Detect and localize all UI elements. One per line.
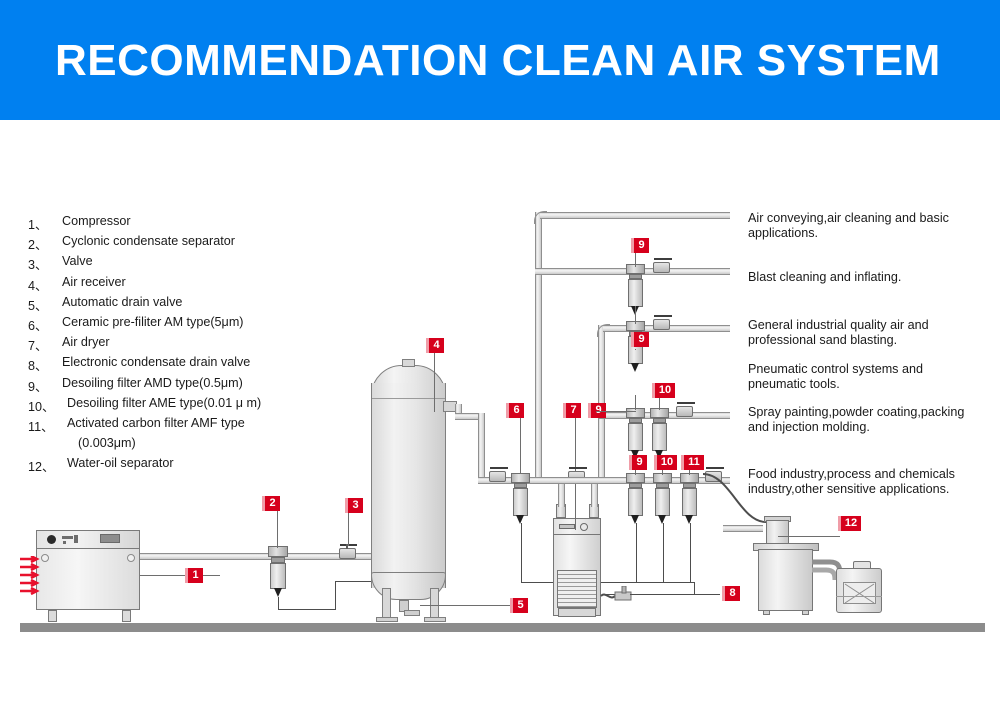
legend-item-2: 2、 Cyclonic condensate separator	[28, 234, 328, 254]
legend-number: 3、	[28, 254, 62, 273]
separator-drain-tip	[274, 588, 282, 597]
drain-line-filter-9d	[636, 523, 637, 583]
drain-line-separator	[278, 609, 336, 610]
filter-6-head	[511, 473, 530, 483]
filter-11-drain-tip	[685, 515, 693, 524]
legend-item-6: 6、 Ceramic pre-filiter AM type(5μm)	[28, 315, 328, 335]
legend-number: 9、	[28, 376, 62, 395]
pipe-dryer-inlet	[558, 481, 565, 507]
air-intake-arrows-icon	[20, 556, 46, 600]
valve-outlet-2-handle[interactable]	[654, 258, 672, 260]
drain-line-filter-11	[690, 523, 691, 583]
legend-item-5: 5、 Automatic drain valve	[28, 295, 328, 315]
legend-label: Air dryer	[62, 335, 110, 349]
collection-can-seam	[836, 596, 882, 597]
tag-9d: 9	[629, 455, 647, 470]
legend-item-11-line2: (0.003μm)	[28, 436, 328, 456]
legend-label: Desoiling filter AMD type(0.5μm)	[62, 376, 243, 390]
pipe-receiver-down	[478, 413, 485, 478]
compressor-lever-icon	[74, 535, 78, 543]
legend-label: Water-oil separator	[67, 456, 174, 470]
compressor-indicator-icon	[63, 541, 66, 544]
leader-line-10a	[659, 397, 660, 410]
air-receiver-shell	[371, 383, 446, 588]
valve-outlet-3-body[interactable]	[653, 319, 670, 330]
legend-number: 2、	[28, 234, 62, 253]
dryer-knob-icon[interactable]	[580, 523, 588, 531]
valve-outlet-3-handle[interactable]	[654, 315, 672, 317]
legend-number: 5、	[28, 295, 62, 314]
legend-number: 1、	[28, 214, 62, 233]
collection-can-x-icon	[843, 582, 877, 605]
filter-9b-drain-tip	[631, 363, 639, 372]
legend-label: Ceramic pre-filiter AM type(5μm)	[62, 315, 244, 329]
diagram-page: RECOMMENDATION CLEAN AIR SYSTEM 1、 Compr…	[0, 0, 1000, 704]
valve-dryer-handle[interactable]	[569, 467, 587, 469]
page-header: RECOMMENDATION CLEAN AIR SYSTEM	[0, 0, 1000, 120]
pipe-main-riser	[535, 212, 542, 480]
legend-number: 12、	[28, 456, 62, 475]
filter-9d-drain-tip	[631, 515, 639, 524]
legend-item-3: 3、 Valve	[28, 254, 328, 274]
legend-label: Activated carbon filter AMF type	[67, 416, 245, 430]
ground-line	[20, 623, 985, 632]
legend-item-1: 1、 Compressor	[28, 214, 328, 234]
air-receiver-top-nozzle	[402, 359, 415, 367]
valve-outlet-4-handle[interactable]	[677, 402, 695, 404]
filter-9d-bowl	[628, 488, 643, 516]
drain-line-to-8	[630, 594, 720, 595]
legend-label: Desoiling filter AME type(0.01 μ m)	[67, 396, 261, 410]
water-oil-separator-body	[758, 549, 813, 611]
legend-number: 10、	[28, 396, 62, 415]
drain-line-separator	[335, 581, 373, 582]
water-oil-separator-foot	[802, 610, 809, 615]
tag-6: 6	[506, 403, 524, 418]
tag-9a: 9	[631, 238, 649, 253]
page-title: RECOMMENDATION CLEAN AIR SYSTEM	[55, 37, 941, 85]
electronic-drain-valve-icon	[600, 586, 638, 608]
legend-label: Automatic drain valve	[62, 295, 182, 309]
leader-line-2	[277, 510, 278, 548]
leader-line-12	[778, 536, 840, 537]
application-note-3: General industrial quality air and profe…	[748, 318, 980, 349]
leader-line-9b2	[635, 349, 636, 350]
leader-line-1	[140, 575, 220, 576]
compressor-foot	[48, 610, 57, 622]
tag-2: 2	[262, 496, 280, 511]
tag-12: 12	[838, 516, 861, 531]
leader-line-9c	[635, 395, 636, 410]
air-receiver-drain-outlet	[404, 610, 420, 616]
drain-manifold-h	[631, 582, 695, 583]
compressor-foot	[122, 610, 131, 622]
legend-item-9: 9、 Desoiling filter AMD type(0.5μm)	[28, 376, 328, 396]
compressor-switch-icon	[62, 536, 73, 539]
legend-label: Compressor	[62, 214, 131, 228]
filter-9c-bowl	[628, 423, 643, 451]
legend-list: 1、 Compressor 2、 Cyclonic condensate sep…	[28, 214, 328, 476]
tag-1: 1	[185, 568, 203, 583]
filter-10b-bowl	[655, 488, 670, 516]
legend-item-4: 4、 Air receiver	[28, 275, 328, 295]
legend-label-cont: (0.003μm)	[78, 436, 136, 450]
drain-line-filter-6	[521, 523, 522, 583]
valve-outlet-4-body[interactable]	[676, 406, 693, 417]
valve-lower-header-body[interactable]	[489, 471, 506, 482]
tag-11: 11	[681, 455, 704, 470]
legend-item-11: 11、 Activated carbon filter AMF type	[28, 416, 328, 436]
legend-number: 7、	[28, 335, 62, 354]
legend-label: Cyclonic condensate separator	[62, 234, 235, 248]
filter-9a-bowl	[628, 279, 643, 307]
pipe-header-top	[540, 212, 730, 219]
pipe-branch-riser	[598, 325, 605, 477]
application-note-6: Food industry,process and chemicals indu…	[748, 467, 980, 498]
application-note-2: Blast cleaning and inflating.	[748, 270, 980, 285]
tag-9b: 9	[631, 332, 649, 347]
legend-item-8: 8、 Electronic condensate drain valve	[28, 355, 328, 375]
filter-10a-bowl	[652, 423, 667, 451]
tag-7: 7	[563, 403, 581, 418]
water-oil-separator-foot	[763, 610, 770, 615]
leader-line-9c-h	[596, 411, 636, 412]
tag-10a: 10	[652, 383, 675, 398]
hose-to-water-oil-separator	[700, 470, 770, 530]
valve-lower-header-handle[interactable]	[490, 467, 508, 469]
leader-line-6	[520, 418, 521, 474]
legend-item-10: 10、 Desoiling filter AME type(0.01 μ m)	[28, 396, 328, 416]
legend-item-7: 7、 Air dryer	[28, 335, 328, 355]
dryer-grille	[557, 570, 597, 608]
legend-number: 11、	[28, 416, 62, 435]
application-note-5: Spray painting,powder coating,packing an…	[748, 405, 980, 436]
pipe-compressor-outlet	[140, 553, 372, 560]
drain-line-filter-10b	[663, 523, 664, 583]
legend-item-12: 12、 Water-oil separator	[28, 456, 328, 476]
legend-number: 8、	[28, 355, 62, 374]
application-note-1: Air conveying,air cleaning and basic app…	[748, 211, 980, 242]
application-note-4: Pneumatic control systems and pneumatic …	[748, 362, 980, 393]
separator-head	[268, 546, 288, 557]
drain-line-separator	[335, 581, 336, 610]
dryer-base	[558, 608, 596, 617]
dryer-display	[559, 524, 575, 529]
air-receiver-foot	[424, 617, 446, 622]
valve-outlet-2-body[interactable]	[653, 262, 670, 273]
leader-line-9b-main	[635, 306, 636, 324]
filter-6-bowl	[513, 488, 528, 516]
legend-number: 4、	[28, 275, 62, 294]
valve-3-body[interactable]	[339, 548, 356, 559]
leader-line-4	[434, 352, 435, 412]
elbow-branch-icon	[597, 324, 610, 337]
compressor-hinge-icon	[127, 554, 135, 562]
tag-8: 8	[722, 586, 740, 601]
pipe-dryer-outlet	[591, 481, 598, 507]
legend-label: Electronic condensate drain valve	[62, 355, 250, 369]
tag-10b: 10	[654, 455, 677, 470]
tag-3: 3	[345, 498, 363, 513]
leader-line-3	[348, 512, 349, 546]
valve-outlet-5-handle[interactable]	[706, 467, 724, 469]
filter-10b-drain-tip	[658, 515, 666, 524]
tag-5: 5	[510, 598, 528, 613]
compressor-display	[100, 534, 120, 543]
air-receiver-foot	[376, 617, 398, 622]
legend-label: Valve	[62, 254, 93, 268]
compressor-dial-icon	[47, 535, 56, 544]
legend-number: 6、	[28, 315, 62, 334]
elbow-top-icon	[534, 211, 547, 224]
tag-4: 4	[426, 338, 444, 353]
separator-bowl	[270, 563, 286, 589]
legend-label: Air receiver	[62, 275, 126, 289]
filter-6-drain-tip	[516, 515, 524, 524]
filter-11-bowl	[682, 488, 697, 516]
